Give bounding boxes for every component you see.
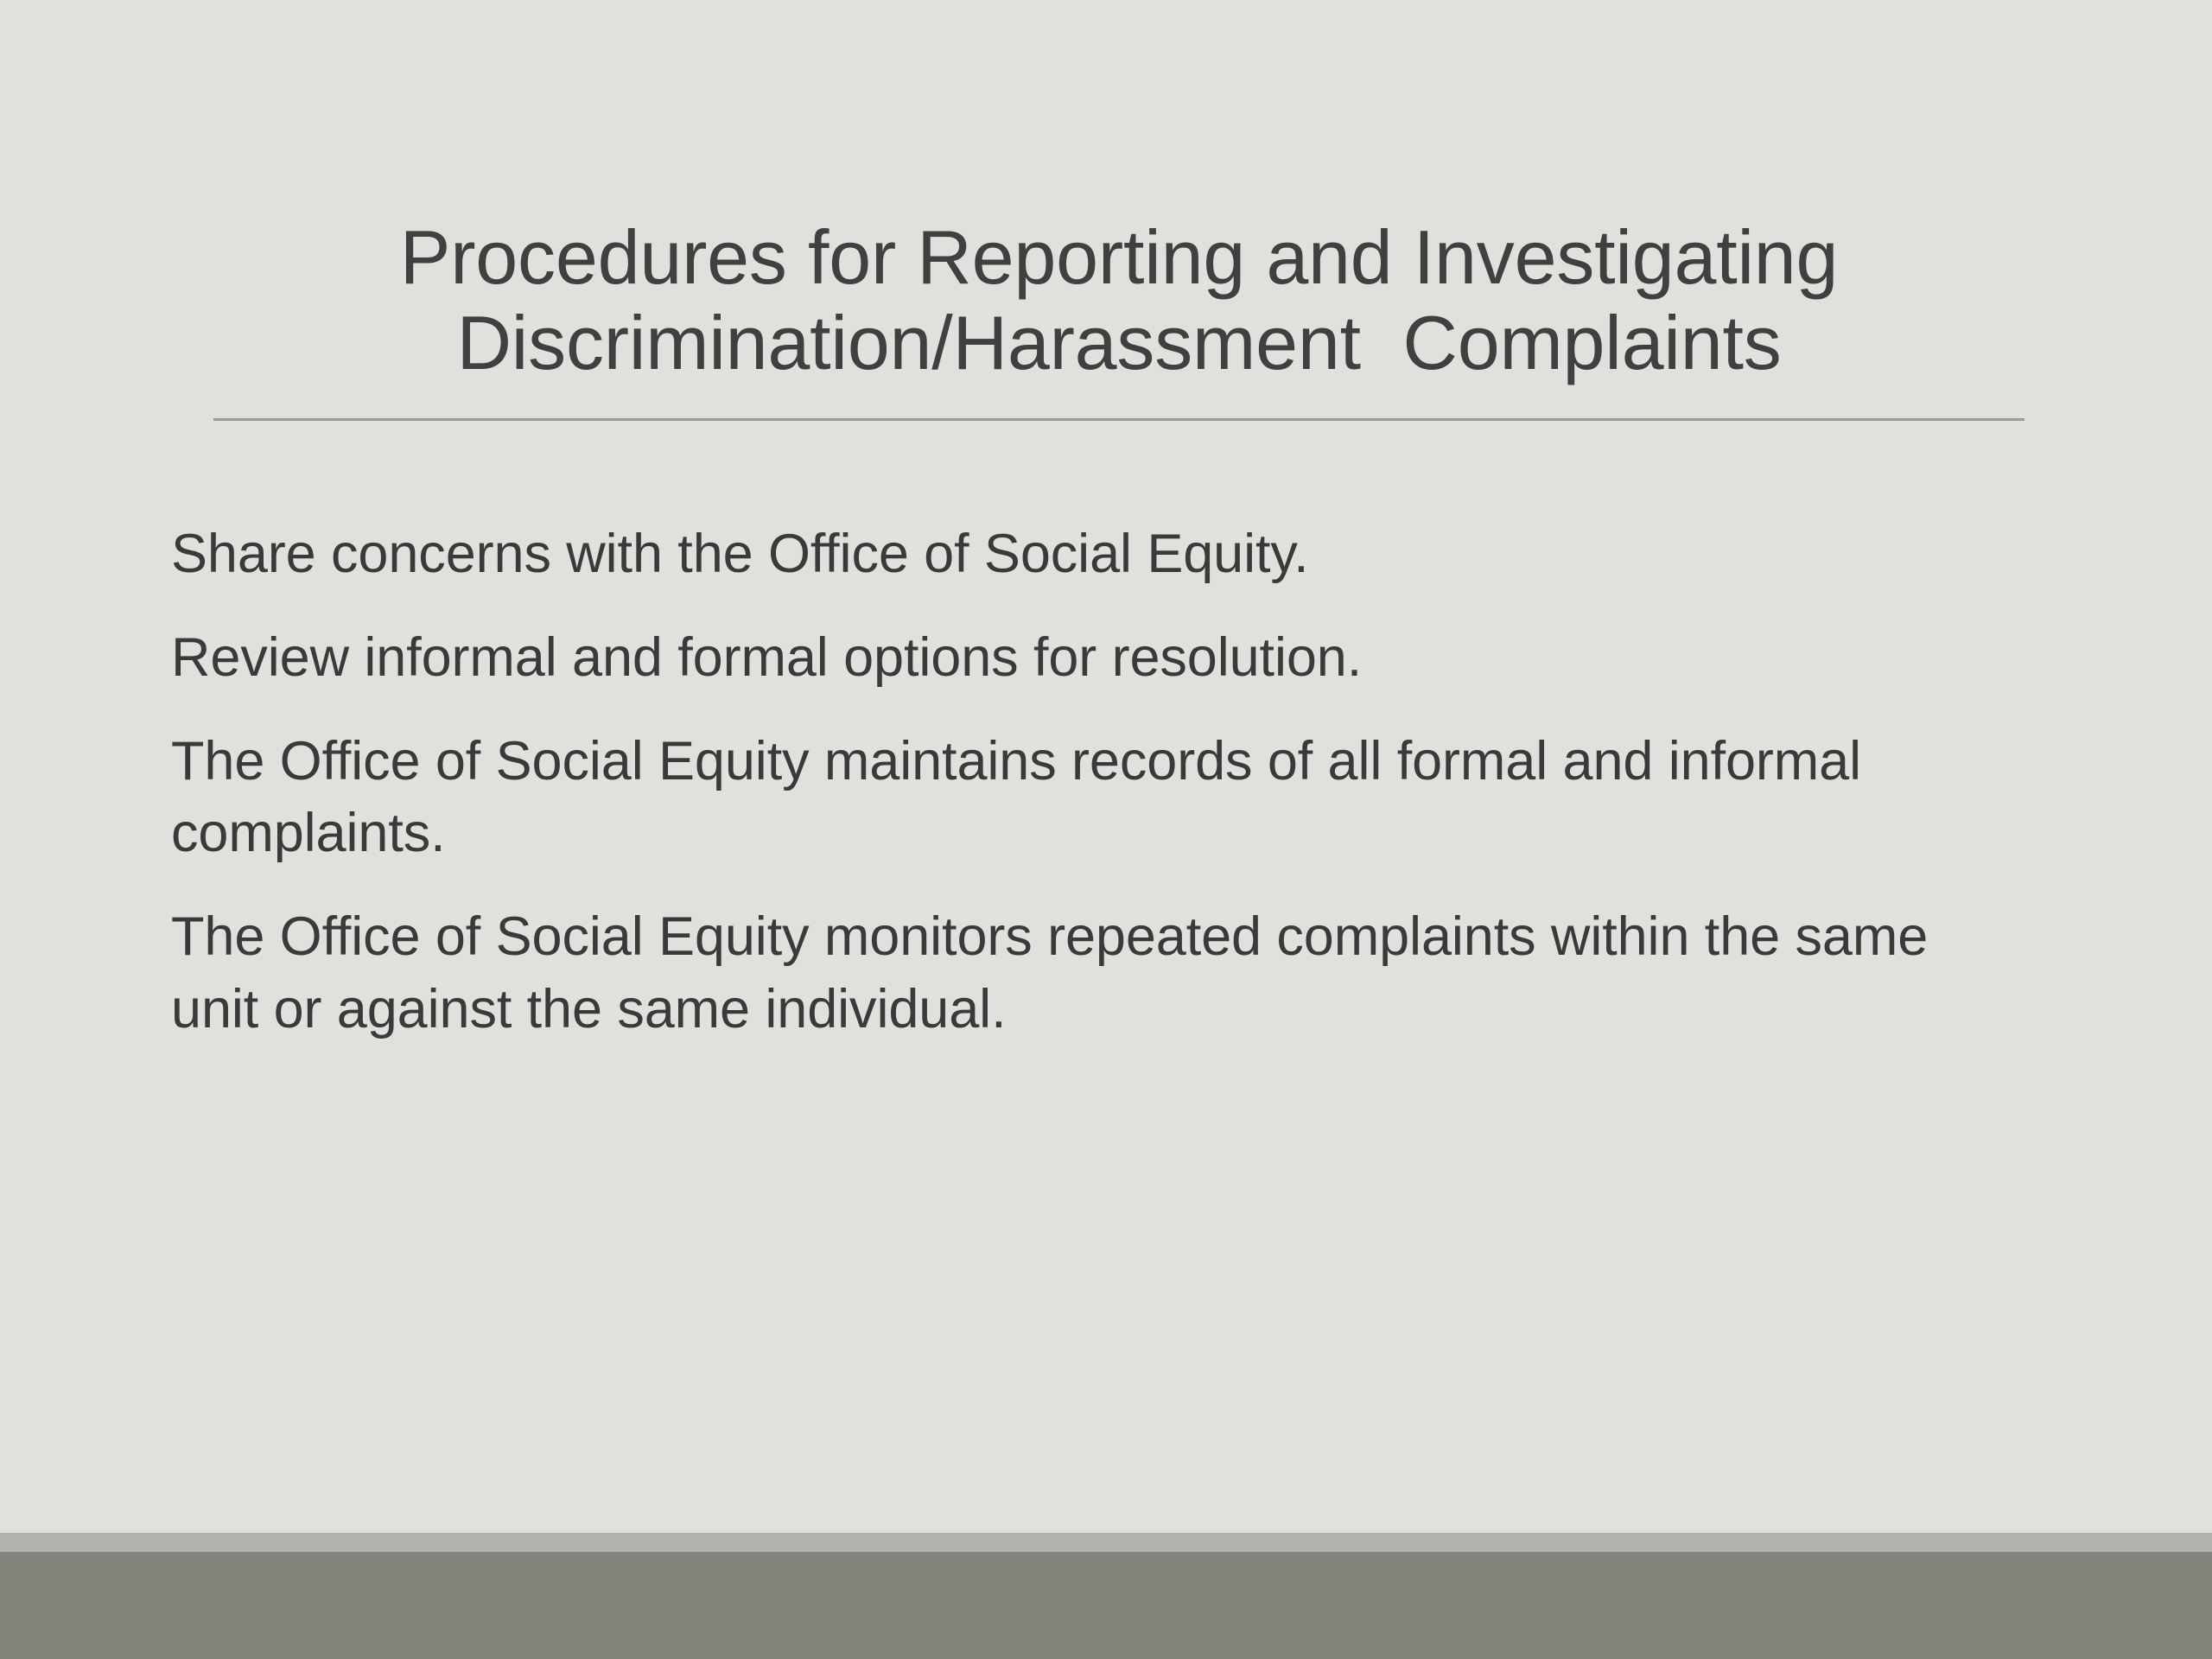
footer-band-dark [0,1552,2212,1659]
body-paragraph-3: The Office of Social Equity maintains re… [171,726,2020,871]
title-underline-divider [213,418,2024,421]
body-paragraph-2: Review informal and formal options for r… [171,622,2020,695]
slide-body-content: Share concerns with the Office of Social… [171,518,2020,1046]
footer-band-light [0,1533,2212,1552]
page-title: Procedures for Reporting and Investigati… [213,214,2024,386]
slide-title-block: Procedures for Reporting and Investigati… [213,214,2024,386]
presentation-slide: Procedures for Reporting and Investigati… [0,0,2212,1659]
body-paragraph-4: The Office of Social Equity monitors rep… [171,901,2020,1046]
body-paragraph-1: Share concerns with the Office of Social… [171,518,2020,591]
